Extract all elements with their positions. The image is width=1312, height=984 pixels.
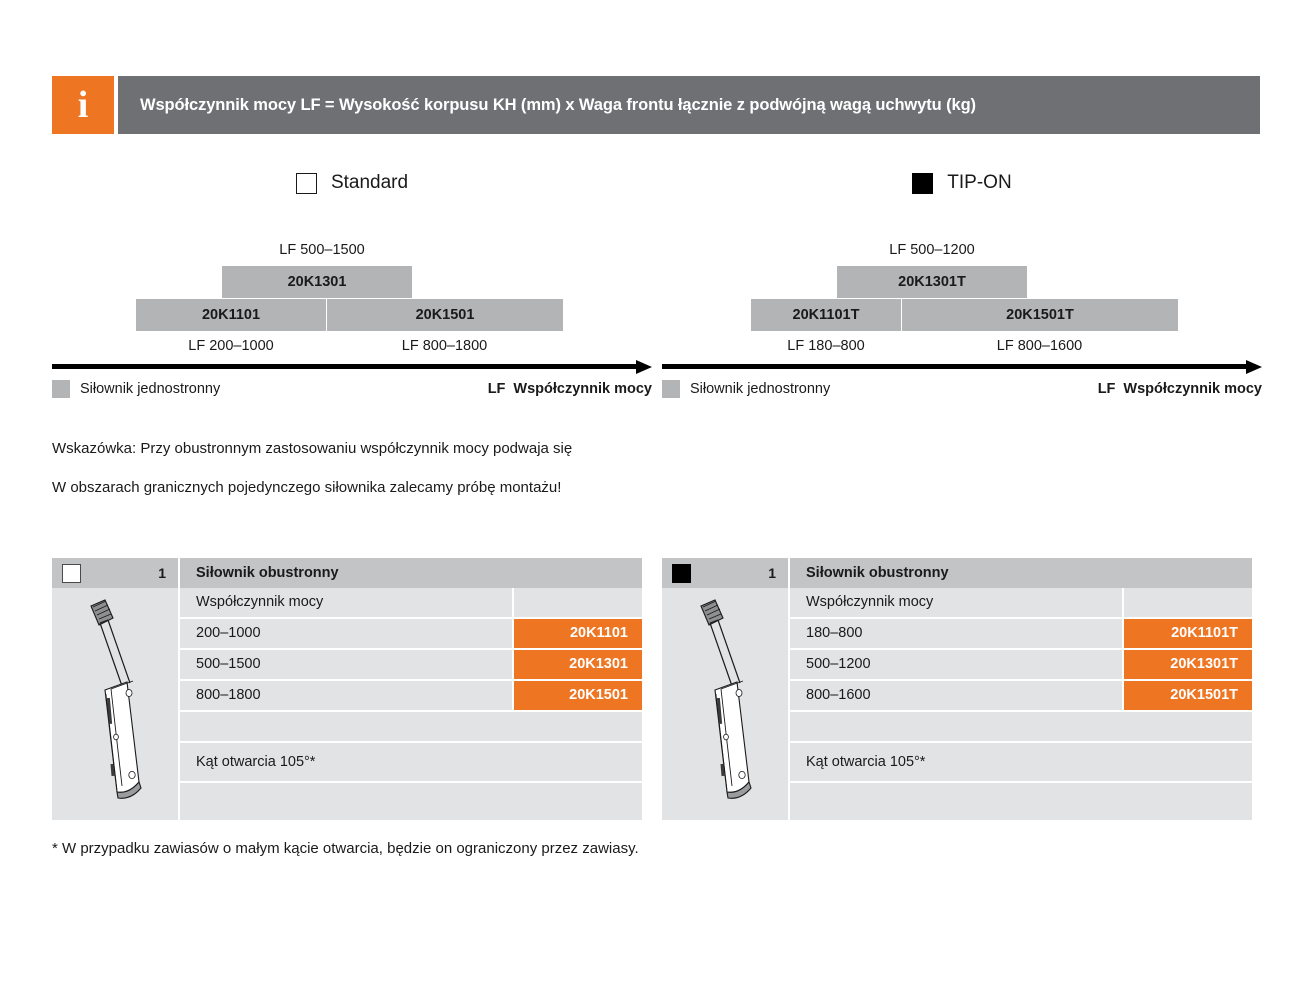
- range-diagram-tipon: TIP-ON LF 500–1200 20K1301T 20K1101T 20K…: [662, 160, 1262, 405]
- range-bar-20k1501: 20K1501: [326, 299, 563, 331]
- grey-square-icon: [52, 380, 70, 398]
- lf-description: Współczynnik mocy: [513, 381, 652, 397]
- black-square-icon: [672, 564, 691, 583]
- table-row: Kąt otwarcia 105°*: [180, 743, 642, 782]
- gas-strut-illustration: [52, 588, 180, 820]
- spec-table-title: Siłownik obustronny: [790, 558, 1252, 588]
- spec-row-code: 20K1501T: [1122, 681, 1252, 710]
- spec-table-qty-cell: 1: [662, 558, 790, 588]
- info-icon-glyph: i: [78, 86, 89, 124]
- table-row: 800–1600 20K1501T: [790, 681, 1252, 712]
- range-bar-20k1301t: 20K1301T: [837, 266, 1027, 298]
- table-row: [790, 712, 1252, 743]
- table-row: [180, 712, 642, 743]
- range-bar-label: 20K1101T: [793, 307, 860, 323]
- spec-table-standard: 1 Siłownik obustronny: [52, 558, 642, 820]
- spec-row-label: 500–1200: [790, 650, 1122, 679]
- lf-description: Współczynnik mocy: [1123, 381, 1262, 397]
- legend-single-strut-label: Siłownik jednostronny: [80, 381, 220, 397]
- spec-row-label: Współczynnik mocy: [790, 588, 1122, 617]
- quantity-value: 1: [158, 565, 166, 581]
- axis-legend-tipon: LFWspółczynnik mocy: [1098, 381, 1262, 397]
- lf-axis-tipon: [662, 360, 1262, 374]
- table-row: Kąt otwarcia 105°*: [790, 743, 1252, 782]
- table-row: [180, 783, 642, 820]
- spec-table-rows: Współczynnik mocy 180–800 20K1101T 500–1…: [790, 588, 1252, 820]
- spec-row-label: Współczynnik mocy: [180, 588, 512, 617]
- info-icon: i: [52, 76, 114, 134]
- spec-row-label: 180–800: [790, 619, 1122, 648]
- spec-row-label: 800–1600: [790, 681, 1122, 710]
- gas-strut-svg: [685, 594, 765, 814]
- diagram-footer-tipon: Siłownik jednostronny LFWspółczynnik moc…: [662, 380, 1262, 398]
- spec-row-label: 200–1000: [180, 619, 512, 648]
- spec-row-label: 800–1800: [180, 681, 512, 710]
- spec-row-code: 20K1301: [512, 650, 642, 679]
- table-row: [790, 783, 1252, 820]
- axis-arrow-icon: [636, 360, 652, 374]
- lf-abbreviation: LF: [1098, 381, 1116, 397]
- spec-row-code: 20K1301T: [1122, 650, 1252, 679]
- axis-arrow-icon: [1246, 360, 1262, 374]
- range-caption-lower-left: LF 180–800: [751, 338, 901, 354]
- spec-row-label: [180, 712, 642, 741]
- range-caption-upper: LF 500–1500: [222, 242, 422, 258]
- table-row: 200–1000 20K1101: [180, 619, 642, 650]
- spec-row-label: [790, 783, 1252, 820]
- note-line-1: Wskazówka: Przy obustronnym zastosowaniu…: [52, 440, 752, 457]
- range-bar-label: 20K1301: [288, 274, 347, 290]
- white-square-icon: [62, 564, 81, 583]
- table-row: 500–1500 20K1301: [180, 650, 642, 681]
- quantity-value: 1: [768, 565, 776, 581]
- table-row: Współczynnik mocy: [180, 588, 642, 619]
- range-diagram-standard: Standard LF 500–1500 20K1301 20K1101 20K…: [52, 160, 652, 405]
- range-caption-upper: LF 500–1200: [832, 242, 1032, 258]
- lf-axis-standard: [52, 360, 652, 374]
- footnote: * W przypadku zawiasów o małym kącie otw…: [52, 840, 639, 857]
- spec-row-label: Kąt otwarcia 105°*: [180, 743, 642, 780]
- note-line-2: W obszarach granicznych pojedynczego sił…: [52, 479, 752, 496]
- lf-abbreviation: LF: [488, 381, 506, 397]
- range-bar-label: 20K1501T: [1006, 307, 1074, 323]
- range-bar-20k1301: 20K1301: [222, 266, 412, 298]
- spec-row-code: [1122, 588, 1252, 617]
- spec-row-label: Kąt otwarcia 105°*: [790, 743, 1252, 780]
- spec-row-label: [790, 712, 1252, 741]
- spec-row-label: 500–1500: [180, 650, 512, 679]
- legend-single-strut-label: Siłownik jednostronny: [690, 381, 830, 397]
- spec-table-body: Współczynnik mocy 200–1000 20K1101 500–1…: [52, 588, 642, 820]
- spec-table-title: Siłownik obustronny: [180, 558, 642, 588]
- spec-row-code: 20K1101T: [1122, 619, 1252, 648]
- table-row: 180–800 20K1101T: [790, 619, 1252, 650]
- range-bar-20k1501t: 20K1501T: [901, 299, 1178, 331]
- spec-row-label: [180, 783, 642, 820]
- spec-table-rows: Współczynnik mocy 200–1000 20K1101 500–1…: [180, 588, 642, 820]
- range-bar-label: 20K1501: [416, 307, 475, 323]
- range-caption-lower-right: LF 800–1600: [901, 338, 1178, 354]
- axis-legend-standard: LFWspółczynnik mocy: [488, 381, 652, 397]
- gas-strut-illustration: [662, 588, 790, 820]
- legend-single-strut: Siłownik jednostronny: [662, 380, 830, 398]
- range-bar-20k1101: 20K1101: [136, 299, 326, 331]
- spec-table-qty-cell: 1: [52, 558, 180, 588]
- info-banner: i Współczynnik mocy LF = Wysokość korpus…: [52, 76, 1260, 134]
- gas-strut-svg: [75, 594, 155, 814]
- table-row: 500–1200 20K1301T: [790, 650, 1252, 681]
- notes-block: Wskazówka: Przy obustronnym zastosowaniu…: [52, 440, 752, 518]
- spec-row-code: 20K1101: [512, 619, 642, 648]
- range-bar-label: 20K1301T: [898, 274, 966, 290]
- spec-table-header: 1 Siłownik obustronny: [662, 558, 1252, 588]
- spec-table-tipon: 1 Siłownik obustronny: [662, 558, 1252, 820]
- spec-table-body: Współczynnik mocy 180–800 20K1101T 500–1…: [662, 588, 1252, 820]
- axis-line: [662, 364, 1248, 369]
- range-caption-lower-left: LF 200–1000: [136, 338, 326, 354]
- legend-single-strut: Siłownik jednostronny: [52, 380, 220, 398]
- grey-square-icon: [662, 380, 680, 398]
- range-bar-20k1101t: 20K1101T: [751, 299, 901, 331]
- spec-table-header: 1 Siłownik obustronny: [52, 558, 642, 588]
- range-bar-label: 20K1101: [202, 307, 260, 323]
- info-banner-text: Współczynnik mocy LF = Wysokość korpusu …: [140, 96, 976, 115]
- axis-line: [52, 364, 638, 369]
- diagram-footer-standard: Siłownik jednostronny LFWspółczynnik moc…: [52, 380, 652, 398]
- info-banner-text-container: Współczynnik mocy LF = Wysokość korpusu …: [118, 76, 1260, 134]
- spec-row-code: 20K1501: [512, 681, 642, 710]
- table-row: 800–1800 20K1501: [180, 681, 642, 712]
- table-row: Współczynnik mocy: [790, 588, 1252, 619]
- range-caption-lower-right: LF 800–1800: [326, 338, 563, 354]
- spec-row-code: [512, 588, 642, 617]
